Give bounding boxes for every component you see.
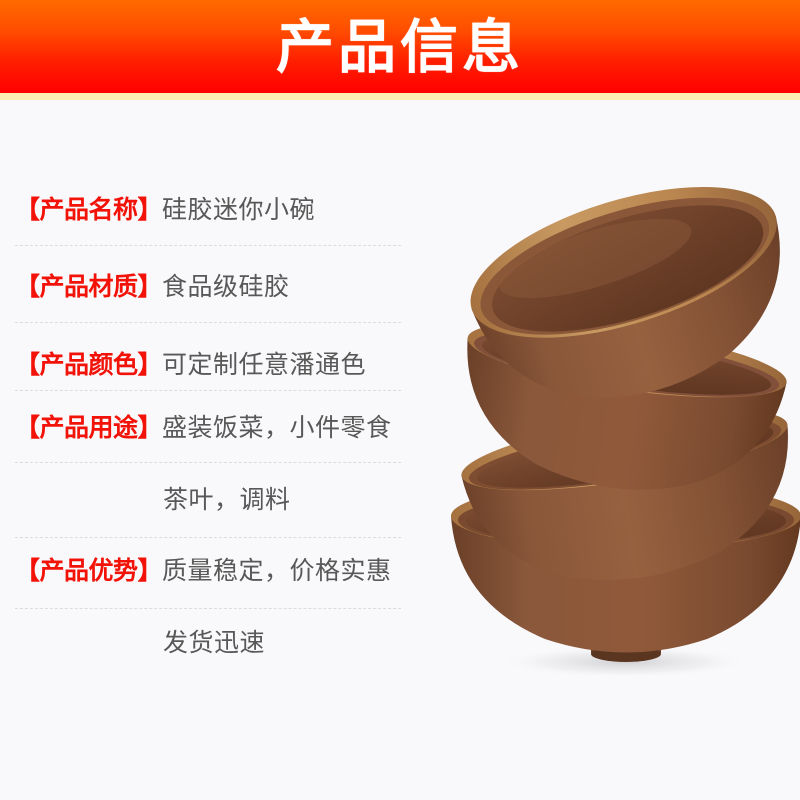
product-info-page: 产品信息 【产品名称】 硅胶迷你小碗 【产品材质】 食品级硅胶 【产品颜色】 可… bbox=[0, 0, 800, 800]
spec-value-continuation: 茶叶，调料 bbox=[163, 485, 291, 515]
spec-label: 【产品名称】 bbox=[15, 195, 162, 225]
spec-row-product-name: 【产品名称】 硅胶迷你小碗 bbox=[15, 195, 445, 225]
spec-row-advantage: 【产品优势】 质量稳定，价格实惠 bbox=[15, 556, 445, 586]
spec-label: 【产品材质】 bbox=[15, 272, 162, 302]
spec-label: 【产品用途】 bbox=[15, 413, 162, 443]
spec-divider bbox=[15, 245, 401, 246]
spec-row-color: 【产品颜色】 可定制任意潘通色 bbox=[15, 350, 445, 380]
spec-value: 盛装饭菜，小件零食 bbox=[162, 413, 392, 443]
spec-row-usage-continued: 茶叶，调料 bbox=[15, 485, 445, 515]
spec-divider bbox=[15, 390, 401, 391]
spec-divider bbox=[15, 537, 401, 538]
spec-list: 【产品名称】 硅胶迷你小碗 【产品材质】 食品级硅胶 【产品颜色】 可定制任意潘… bbox=[0, 100, 430, 660]
header-banner: 产品信息 bbox=[0, 0, 800, 93]
spec-value: 硅胶迷你小碗 bbox=[162, 195, 315, 225]
spec-value: 食品级硅胶 bbox=[162, 272, 290, 302]
page-title: 产品信息 bbox=[276, 19, 524, 77]
spec-label: 【产品优势】 bbox=[15, 556, 162, 586]
product-photo-stacked-bowls bbox=[395, 150, 800, 680]
spec-value: 可定制任意潘通色 bbox=[162, 350, 366, 380]
spec-divider bbox=[15, 608, 401, 609]
spec-label: 【产品颜色】 bbox=[15, 350, 162, 380]
spec-row-usage: 【产品用途】 盛装饭菜，小件零食 bbox=[15, 413, 445, 443]
spec-divider bbox=[15, 322, 401, 323]
spec-value-continuation: 发货迅速 bbox=[163, 628, 265, 658]
spec-row-advantage-continued: 发货迅速 bbox=[15, 628, 445, 658]
spec-divider bbox=[15, 462, 401, 463]
banner-underline bbox=[0, 93, 800, 100]
spec-value: 质量稳定，价格实惠 bbox=[162, 556, 392, 586]
spec-row-material: 【产品材质】 食品级硅胶 bbox=[15, 272, 445, 302]
